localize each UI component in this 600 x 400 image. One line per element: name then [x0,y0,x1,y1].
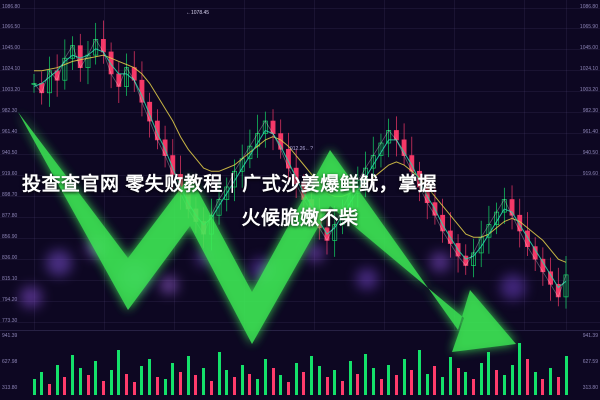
headline-line-1: 投查查官网 零失败教程｜广式沙姜爆鲜鱿，掌握 [22,174,437,195]
headline-line-2: 火候脆嫩不柴 [22,202,578,236]
headline-text: 投查查官网 零失败教程｜广式沙姜爆鲜鱿，掌握 火候脆嫩不柴 [22,168,578,236]
chart-background-poster: 1086.80 1066.50 1045.00 1024.10 1003.20 … [0,0,600,400]
